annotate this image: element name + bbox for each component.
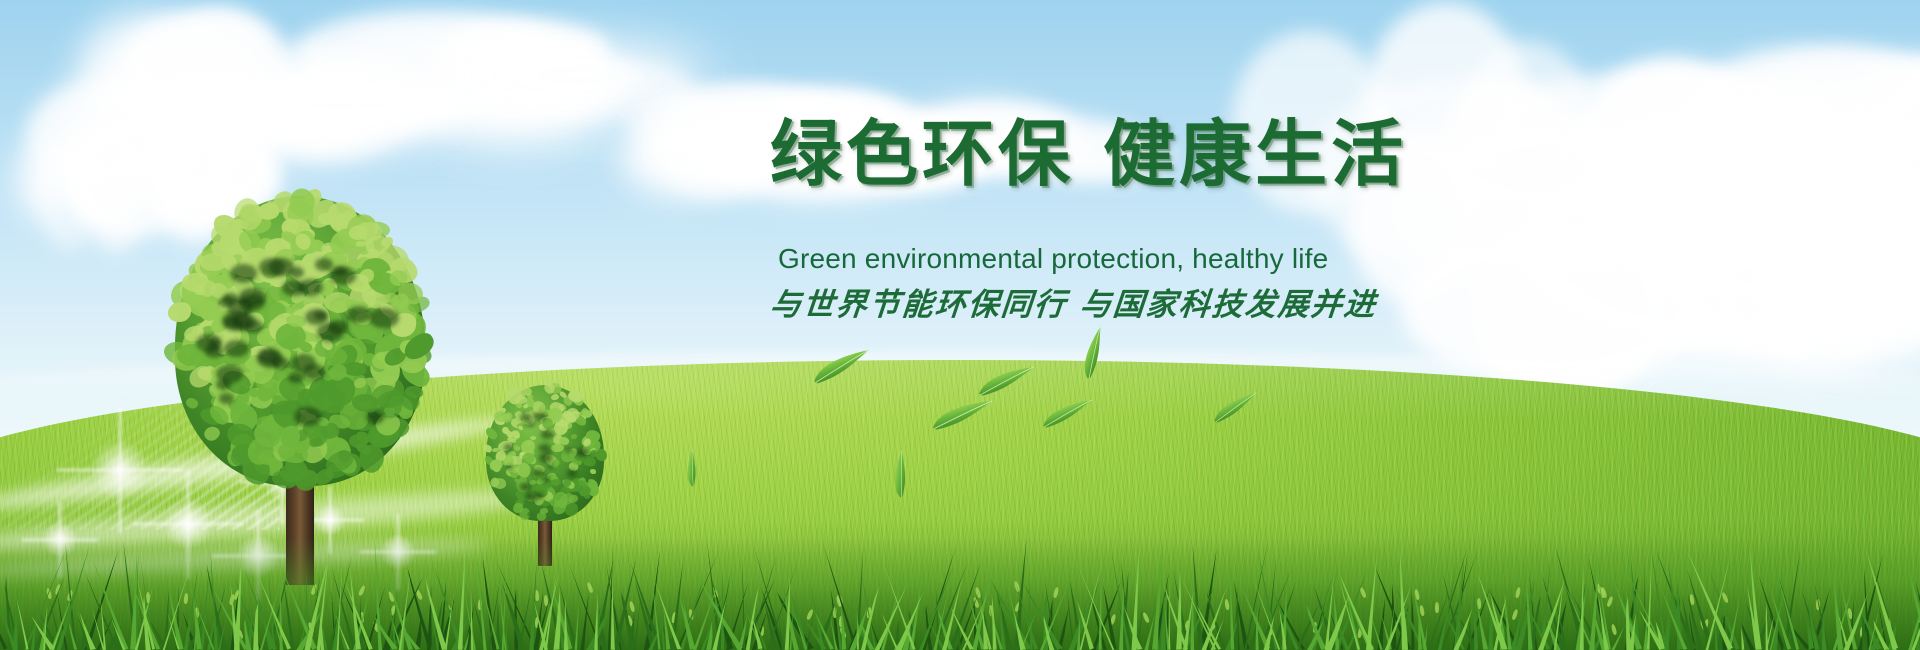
grass-blade [541,554,561,650]
grass-blade [373,540,385,650]
blade-shape [621,576,637,650]
blade-shape [1014,611,1026,650]
blade-shape [1042,607,1057,650]
cloud-puff [343,24,551,69]
blade-shape [350,566,361,650]
blade-shape [563,597,567,650]
grass-blade [468,585,475,650]
grass-blade [1889,604,1898,650]
cloud-puff [27,83,175,183]
cloud-9 [760,100,1140,170]
grass-blade [1042,607,1059,650]
blade-shape [1749,544,1761,650]
grass-blade [226,583,242,650]
cloud-puff [1750,177,1891,248]
blade-shape [230,583,239,650]
green-environment-banner: 绿色环保 健康生活 Green environmental protection… [0,0,1920,650]
cloud-puff [843,124,980,180]
canopy-shadow [333,266,347,276]
blade-shape [373,540,383,650]
canopy-shadow [315,258,333,270]
canopy-shadow [239,288,266,307]
canopy-shadow [223,293,238,303]
canopy-shadow [533,412,547,422]
canopy-shadow [294,407,321,426]
canopy-shadow [216,379,231,390]
blade-shape [1580,562,1586,650]
grass-seed-head [1435,602,1439,613]
blade-shape [478,540,487,650]
blade-shape [1889,604,1897,650]
canopy-shadow [291,354,317,372]
canopy-shadow [520,483,530,490]
blade-shape [1599,595,1610,650]
blade-shape [458,538,466,650]
canopy-shadow [366,411,384,424]
grass-blade [621,576,640,650]
grass-blade [345,566,364,650]
canopy-shadow [282,280,304,296]
canopy-shadow [565,448,572,453]
canopy-shadow [539,453,553,463]
tall-grass-border [0,538,1920,650]
grass-blade [1574,562,1587,650]
canopy-shadow [567,470,578,477]
grass-blade [1596,595,1611,650]
canopy-shadow [224,340,249,358]
large-tree [175,196,425,591]
cloud-3 [0,60,240,190]
canopy-shadow [369,308,398,329]
grass-blade [779,554,791,650]
blade-shape [784,554,790,650]
canopy-shadow [259,258,285,276]
canopy-shadow [219,393,234,404]
canopy-shadow [576,448,588,456]
canopy-shadow [547,465,554,470]
cloud-8 [1700,170,1920,310]
blade-shape [470,585,475,650]
canopy-shadow [230,264,257,283]
sparkle-1 [90,440,150,500]
canopy-shadow [288,372,304,383]
